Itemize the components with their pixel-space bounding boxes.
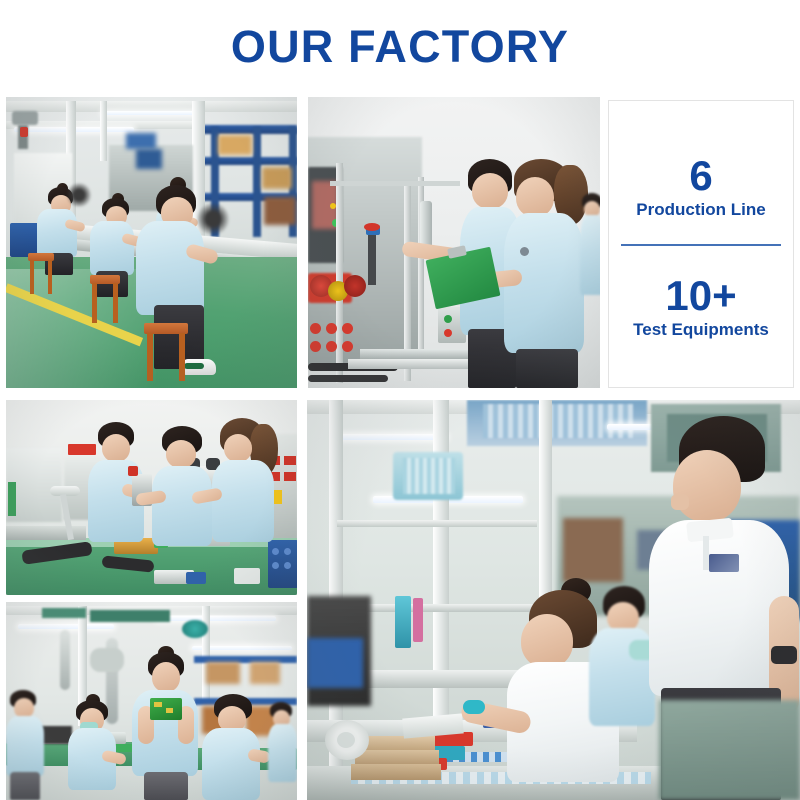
stat-label: Production Line	[615, 200, 787, 220]
photo-production-floor-supervisor	[307, 400, 800, 800]
stat-test-equipments: 10+ Test Equipments	[609, 274, 793, 340]
stat-label: Test Equipments	[615, 320, 787, 340]
stat-production-line: 6 Production Line	[609, 154, 793, 220]
stat-value: 6	[615, 154, 787, 198]
page-title: OUR FACTORY	[231, 24, 569, 69]
title-bar: OUR FACTORY	[0, 0, 800, 92]
stat-value: 10+	[615, 274, 787, 318]
gallery-row-bottom	[6, 400, 800, 800]
photo-machine-inspection	[308, 97, 600, 388]
stats-divider	[621, 244, 781, 246]
gallery-left-column	[6, 400, 297, 800]
photo-qc-microscope-bench	[6, 400, 297, 595]
stats-panel: 6 Production Line 10+ Test Equipments	[608, 100, 794, 388]
photo-assembly-line	[6, 97, 297, 388]
factory-page: OUR FACTORY	[0, 0, 800, 800]
photo-pcb-inspection	[6, 602, 297, 800]
